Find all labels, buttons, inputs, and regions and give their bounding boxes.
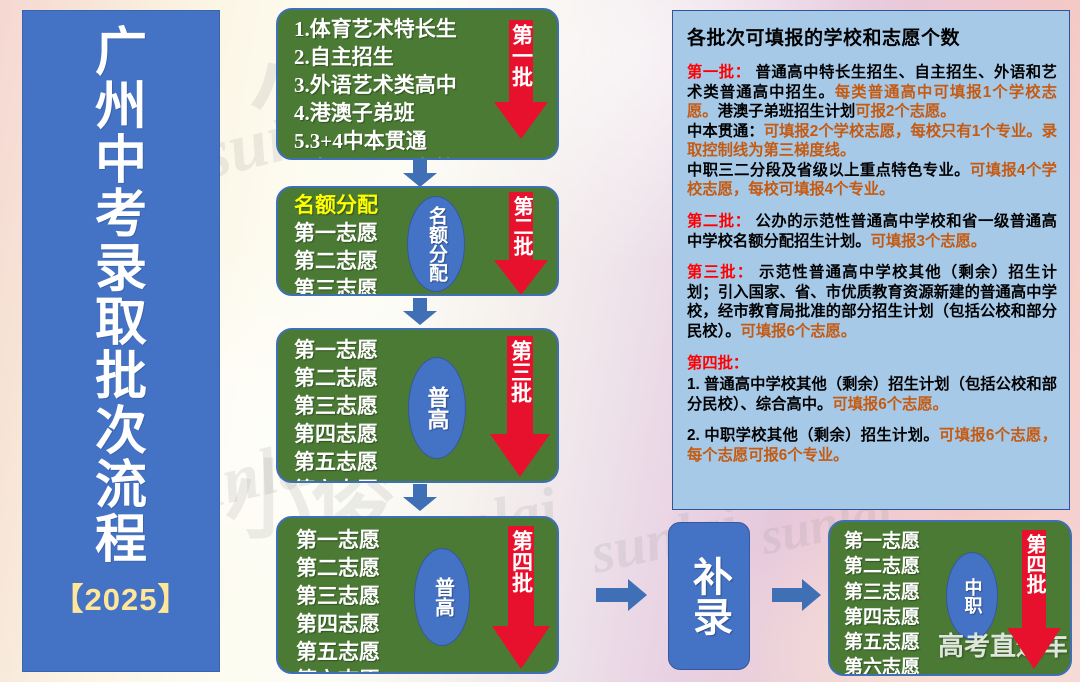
connector-arrow-right-2 bbox=[772, 578, 822, 612]
list-item: 2.自主招生 bbox=[294, 44, 457, 72]
makeup-char: 录 bbox=[687, 596, 732, 636]
arrow-char: 批 bbox=[510, 382, 531, 403]
text-run: 可填报3个志愿。 bbox=[871, 233, 987, 250]
batch-4-arrow-label: 第 四 批 bbox=[491, 530, 551, 638]
title-char: 考 bbox=[95, 189, 147, 243]
arrow-char: 四 bbox=[1024, 554, 1044, 574]
makeup-vocational-box: 第一志愿 第二志愿 第三志愿 第四志愿 第五志愿 第六志愿 中职 高考直通车 第… bbox=[828, 520, 1072, 676]
makeup-red-arrow: 第 四 批 bbox=[1006, 530, 1062, 670]
ellipse-char: 普 bbox=[425, 386, 450, 408]
ellipse-char: 中 bbox=[962, 578, 982, 596]
arrow-char: 一 bbox=[511, 45, 532, 66]
batch-1-lines: 1.体育艺术特长生 2.自主招生 3.外语艺术类高中 4.港澳子弟班 5.3+4… bbox=[294, 16, 457, 160]
list-item: 第二志愿 bbox=[294, 365, 378, 393]
list-item: 第二志愿 bbox=[294, 248, 378, 276]
title-char: 流 bbox=[95, 460, 147, 514]
ellipse-text: 中职 bbox=[963, 578, 982, 614]
list-item: 第三志愿 bbox=[844, 580, 920, 605]
section-heading: 第一批： bbox=[687, 64, 751, 81]
list-item: 第六志愿 bbox=[844, 655, 920, 676]
connector-arrow-2 bbox=[402, 298, 438, 326]
ellipse-char: 名 bbox=[426, 206, 447, 225]
list-item: 第三志愿 bbox=[294, 393, 378, 421]
batch-3-lines: 第一志愿 第二志愿 第三志愿 第四志愿 第五志愿 第六志愿 bbox=[294, 337, 378, 483]
list-item: 第一志愿 bbox=[296, 527, 380, 555]
batch-3-arrow-label: 第 三 批 bbox=[489, 340, 551, 446]
section-heading: 第四批： bbox=[687, 355, 748, 372]
list-item: 第五志愿 bbox=[294, 449, 378, 477]
list-item: 第一志愿 bbox=[294, 337, 378, 365]
info-section-batch-2: 第二批： 公办的示范性普通高中学校和省一级普通高中学校名额分配招生计划。可填报3… bbox=[687, 212, 1057, 251]
batch-2-red-arrow: 第 二 批 bbox=[493, 192, 549, 296]
makeup-ellipse-label: 中职 bbox=[946, 552, 998, 640]
connector-arrow-3 bbox=[402, 484, 438, 512]
info-section-batch-3: 第三批： 示范性普通高中学校其他（剩余）招生计划；引入国家、省、市优质教育资源新… bbox=[687, 263, 1057, 341]
title-char: 广 bbox=[95, 27, 147, 81]
info-panel: 各批次可填报的学校和志愿个数 第一批： 普通高中特长生招生、自主招生、外语和艺术… bbox=[672, 10, 1070, 510]
title-char: 中 bbox=[95, 135, 147, 189]
list-item: 第四志愿 bbox=[294, 421, 378, 449]
batch-2-ellipse-label: 名额分配 bbox=[407, 196, 465, 292]
arrow-char: 批 bbox=[511, 572, 532, 593]
ellipse-text: 名额分配 bbox=[426, 206, 446, 282]
batch-2-lines: 名额分配 第一志愿 第二志愿 第三志愿 bbox=[294, 192, 378, 296]
title-char: 次 bbox=[95, 406, 147, 460]
list-item: 第四志愿 bbox=[844, 605, 920, 630]
title-char: 录 bbox=[95, 243, 147, 297]
text-run: 中本贯通： bbox=[687, 123, 764, 140]
list-item: 第二志愿 bbox=[844, 554, 920, 579]
list-item: 1.体育艺术特长生 bbox=[294, 16, 457, 44]
arrow-char: 批 bbox=[1024, 574, 1044, 594]
batch-4-red-arrow: 第 四 批 bbox=[491, 526, 551, 670]
page-title: 广 州 中 考 录 取 批 次 流 程 bbox=[95, 27, 147, 568]
list-item: 第一志愿 bbox=[844, 529, 920, 554]
section-body: 普通高中特长生招生、自主招生、外语和艺术类普通高中招生。每类普通高中可填报1个学… bbox=[687, 64, 1057, 198]
title-char: 程 bbox=[95, 514, 147, 568]
arrow-char: 第 bbox=[510, 340, 531, 361]
ellipse-char: 职 bbox=[962, 596, 982, 614]
batch-4-ellipse-label: 普高 bbox=[414, 548, 470, 646]
info-section-batch-1: 第一批： 普通高中特长生招生、自主招生、外语和艺术类普通高中招生。每类普通高中可… bbox=[687, 63, 1057, 200]
list-item: 5.3+4中本贯通 bbox=[294, 128, 457, 156]
batch-3-red-arrow: 第 三 批 bbox=[489, 336, 551, 478]
list-item: 4.港澳子弟班 bbox=[294, 100, 457, 128]
batch-2-box: 名额分配 第一志愿 第二志愿 第三志愿 名额分配 第 二 批 bbox=[276, 186, 559, 296]
info-section-batch-4-item-1: 1. 普通高中学校其他（剩余）招生计划（包括公校和部分民校）、综合高中。可填报6… bbox=[687, 375, 1057, 414]
arrow-char: 四 bbox=[511, 551, 532, 572]
title-char: 批 bbox=[95, 351, 147, 405]
list-item: 第一志愿 bbox=[294, 220, 378, 248]
ellipse-char: 分 bbox=[426, 244, 447, 263]
title-year: 【2025】 bbox=[53, 574, 190, 619]
title-panel: 广 州 中 考 录 取 批 次 流 程 【2025】 bbox=[22, 10, 220, 672]
batch-1-box: 1.体育艺术特长生 2.自主招生 3.外语艺术类高中 4.港澳子弟班 5.3+4… bbox=[276, 8, 559, 160]
list-item: 第六志愿 bbox=[296, 667, 380, 674]
arrow-char: 第 bbox=[511, 530, 532, 551]
text-run: 2. 中职学校其他（剩余）招生计划。 bbox=[687, 427, 939, 444]
arrow-char: 第 bbox=[511, 196, 531, 216]
title-char: 州 bbox=[95, 81, 147, 135]
connector-arrow-1 bbox=[402, 160, 438, 188]
batch-3-box: 第一志愿 第二志愿 第三志愿 第四志愿 第五志愿 第六志愿 普高 第 三 批 bbox=[276, 328, 559, 483]
list-item-highlight: 名额分配 bbox=[294, 192, 378, 220]
arrow-char: 第 bbox=[1024, 534, 1044, 554]
arrow-char: 批 bbox=[511, 236, 531, 256]
ellipse-char: 额 bbox=[426, 225, 447, 244]
makeup-admission-box: 补录 bbox=[668, 522, 750, 670]
list-item: 第五志愿 bbox=[844, 630, 920, 655]
arrow-char: 第 bbox=[511, 24, 532, 45]
ellipse-char: 配 bbox=[426, 263, 447, 282]
batch-3-ellipse-label: 普高 bbox=[408, 357, 466, 459]
list-item: 第六志愿 bbox=[294, 477, 378, 483]
batch-4-box: 第一志愿 第二志愿 第三志愿 第四志愿 第五志愿 第六志愿 普高 第 四 批 bbox=[276, 516, 559, 674]
info-panel-title: 各批次可填报的学校和志愿个数 bbox=[687, 23, 1057, 50]
batch-2-arrow-label: 第 二 批 bbox=[493, 196, 549, 280]
makeup-char: 补 bbox=[687, 556, 732, 596]
makeup-arrow-label: 第 四 批 bbox=[1006, 534, 1062, 638]
list-item: 第二志愿 bbox=[296, 555, 380, 583]
makeup-label: 补录 bbox=[686, 556, 732, 636]
list-item: 第四志愿 bbox=[296, 611, 380, 639]
ellipse-text: 普高 bbox=[425, 386, 448, 430]
arrow-char: 二 bbox=[511, 216, 531, 236]
batch-4-lines: 第一志愿 第二志愿 第三志愿 第四志愿 第五志愿 第六志愿 bbox=[296, 527, 380, 674]
info-section-batch-4-item-2: 2. 中职学校其他（剩余）招生计划。可填报6个志愿，每个志愿可报6个专业。 bbox=[687, 426, 1057, 465]
section-heading: 第二批： bbox=[687, 213, 751, 230]
text-run: 中职三二分段及省级以上重点特色专业。 bbox=[687, 162, 970, 179]
list-item: 第三志愿 bbox=[294, 276, 378, 296]
section-heading: 第三批： bbox=[687, 264, 754, 281]
list-item: 3.外语艺术类高中 bbox=[294, 72, 457, 100]
title-char: 取 bbox=[95, 297, 147, 351]
list-item: 第五志愿 bbox=[296, 639, 380, 667]
text-run: 可报2个志愿。 bbox=[855, 103, 955, 120]
makeup-box-lines: 第一志愿 第二志愿 第三志愿 第四志愿 第五志愿 第六志愿 bbox=[844, 529, 920, 676]
list-item: 第三志愿 bbox=[296, 583, 380, 611]
arrow-char: 三 bbox=[510, 361, 531, 382]
ellipse-text: 普高 bbox=[432, 577, 453, 617]
batch-1-red-arrow: 第 一 批 bbox=[493, 20, 549, 140]
text-run: 可填报6个志愿。 bbox=[832, 396, 948, 413]
ellipse-char: 高 bbox=[432, 597, 454, 617]
connector-arrow-right-1 bbox=[596, 578, 648, 612]
info-section-batch-4-heading: 第四批： bbox=[687, 354, 1057, 374]
batch-1-arrow-label: 第 一 批 bbox=[493, 24, 549, 120]
arrow-char: 批 bbox=[511, 66, 532, 87]
text-run: 可填报6个志愿。 bbox=[741, 323, 857, 340]
ellipse-char: 高 bbox=[425, 408, 450, 430]
ellipse-char: 普 bbox=[432, 577, 454, 597]
text-run: 港澳子弟班招生计划 bbox=[718, 103, 856, 120]
